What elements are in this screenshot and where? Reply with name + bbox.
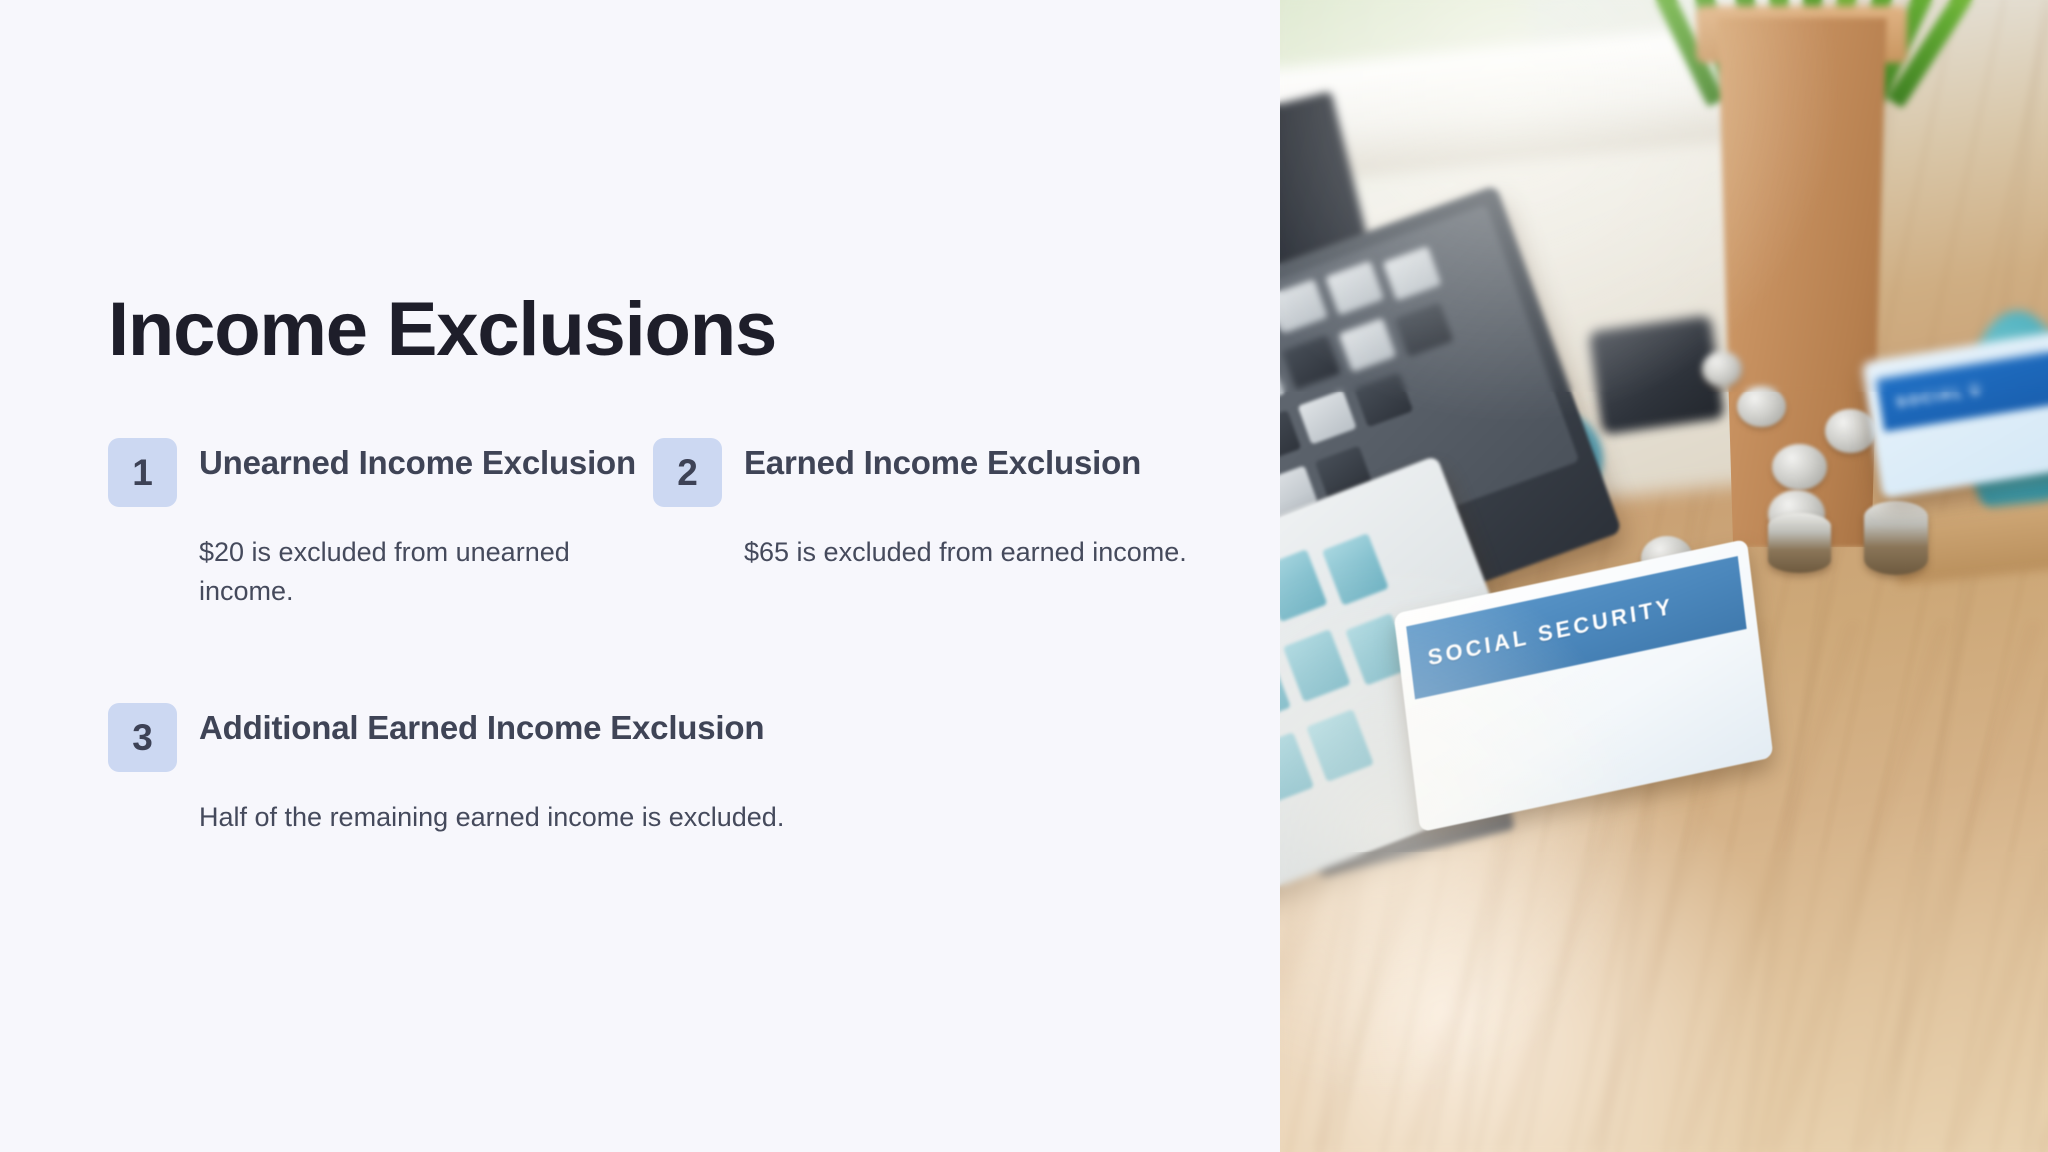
calculator-key — [1396, 302, 1455, 357]
calculator-key — [1280, 278, 1328, 333]
exclusion-item-3: 3 Additional Earned Income Exclusion Hal… — [108, 703, 1198, 837]
exclusion-items-grid: 1 Unearned Income Exclusion $20 is exclu… — [108, 438, 1208, 837]
exclusion-item-3-badge: 3 — [108, 703, 177, 772]
calculator-key — [1280, 732, 1314, 805]
social-security-card-background-label: SOCIAL S — [1895, 381, 1983, 411]
calculator-key — [1280, 549, 1328, 622]
photo-panel: SOCIAL S SOCIAL SECURITY — [1280, 0, 2048, 1152]
desk-photo: SOCIAL S SOCIAL SECURITY — [1280, 0, 2048, 1152]
coin — [1825, 409, 1876, 453]
calculator-key — [1338, 317, 1397, 372]
calculator-key — [1283, 629, 1350, 702]
exclusion-item-3-title: Additional Earned Income Exclusion — [199, 703, 764, 748]
exclusion-item-1-body: $20 is excluded from unearned income. — [199, 533, 653, 611]
exclusion-item-2-body: $65 is excluded from earned income. — [744, 533, 1198, 572]
calculator-key — [1326, 261, 1385, 316]
slide: Income Exclusions 1 Unearned Income Excl… — [0, 0, 2048, 1152]
calculator-key — [1298, 390, 1357, 445]
calculator-key — [1355, 372, 1414, 427]
social-security-card-label: SOCIAL SECURITY — [1426, 594, 1675, 672]
coin-stack — [1864, 501, 1929, 575]
exclusion-item-3-body: Half of the remaining earned income is e… — [199, 798, 1198, 837]
calculator-key — [1383, 246, 1442, 301]
exclusion-item-2-head: 2 Earned Income Exclusion — [653, 438, 1198, 507]
coin — [1772, 444, 1827, 490]
exclusion-item-2-title: Earned Income Exclusion — [744, 438, 1141, 483]
coin-stack — [1768, 513, 1831, 573]
exclusion-item-3-head: 3 Additional Earned Income Exclusion — [108, 703, 1198, 772]
grid-row-spacer — [108, 611, 1198, 703]
calculator-key — [1282, 335, 1341, 390]
social-security-card-background-band: SOCIAL S — [1877, 351, 2048, 432]
calculator-key — [1280, 410, 1302, 465]
content-panel: Income Exclusions 1 Unearned Income Excl… — [0, 0, 1280, 1152]
calculator-key — [1322, 533, 1389, 606]
exclusion-item-1-title: Unearned Income Exclusion — [199, 438, 636, 483]
exclusion-item-1-head: 1 Unearned Income Exclusion — [108, 438, 653, 507]
content-inner: Income Exclusions 1 Unearned Income Excl… — [108, 290, 1208, 837]
exclusion-item-2: 2 Earned Income Exclusion $65 is exclude… — [653, 438, 1198, 611]
exclusion-item-1: 1 Unearned Income Exclusion $20 is exclu… — [108, 438, 653, 611]
calculator-key — [1307, 709, 1374, 782]
calculator-key — [1280, 355, 1286, 410]
exclusion-item-2-badge: 2 — [653, 438, 722, 507]
exclusion-item-1-badge: 1 — [108, 438, 177, 507]
page-title: Income Exclusions — [108, 290, 1208, 370]
